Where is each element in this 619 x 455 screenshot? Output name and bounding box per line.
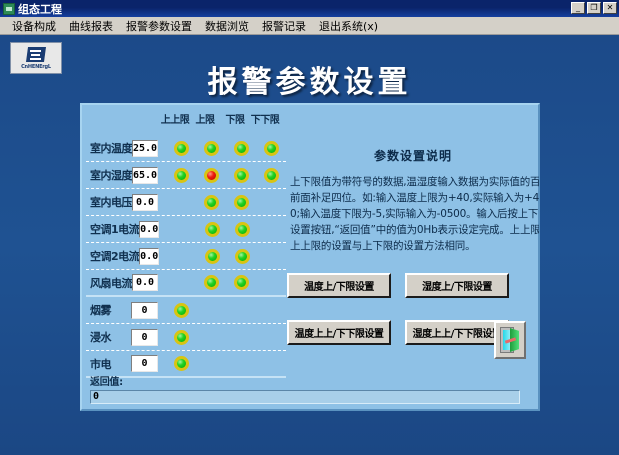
- status-led-green: [234, 168, 249, 183]
- row-label: 空调1电流: [86, 221, 139, 237]
- led-cell-upper-upper: [166, 356, 196, 371]
- status-led-green: [174, 141, 189, 156]
- led-cell-lower: [226, 168, 256, 183]
- status-led-green: [174, 168, 189, 183]
- settings-panel: 上上限 上限 下限 下下限 室内温度 25.0: [80, 103, 540, 411]
- description-panel: 参数设置说明 上下限值为带符号的数据,温湿度输入数据为实际值的百倍,前面补足四位…: [287, 135, 539, 254]
- led-cell-upper: [196, 141, 226, 156]
- status-led-green: [174, 330, 189, 345]
- menubar: 设备构成 曲线报表 报警参数设置 数据浏览 报警记录 退出系统(x): [0, 17, 619, 35]
- led-cell-lower-lower: [257, 222, 287, 237]
- table-row: 空调2电流 0.0: [86, 243, 286, 270]
- menu-data-browse[interactable]: 数据浏览: [199, 17, 256, 35]
- led-cell-lower: [226, 141, 256, 156]
- led-cell-lower-lower: [256, 168, 286, 183]
- led-cell-upper-upper: [166, 330, 196, 345]
- close-button[interactable]: ✕: [603, 2, 617, 14]
- led-cell-lower-lower: [256, 330, 286, 345]
- status-led-green: [205, 249, 220, 264]
- led-placeholder: [175, 222, 190, 237]
- led-cell-lower: [226, 275, 256, 290]
- status-led-green: [234, 141, 249, 156]
- exit-door-icon: [500, 327, 520, 353]
- table-row: 室内电压 0.0: [86, 189, 286, 216]
- temp-upper-lower-limit-button[interactable]: 温度上/下限设置: [287, 273, 391, 298]
- status-led-green: [235, 249, 250, 264]
- column-header-lower: 下限: [220, 111, 250, 126]
- led-placeholder: [265, 249, 280, 264]
- led-cell-upper: [196, 195, 226, 210]
- status-led-green: [235, 222, 250, 237]
- row-value-input[interactable]: 0: [131, 355, 158, 372]
- led-placeholder: [264, 195, 279, 210]
- row-value-input[interactable]: 0: [131, 329, 158, 346]
- led-cell-lower-lower: [257, 249, 287, 264]
- led-placeholder: [264, 356, 279, 371]
- table-row: 风扇电流 0.0: [86, 270, 286, 297]
- table-row: 空调1电流 0.0: [86, 216, 286, 243]
- status-led-green: [234, 195, 249, 210]
- window-controls[interactable]: _ ❐ ✕: [571, 2, 617, 14]
- led-placeholder: [234, 330, 249, 345]
- led-cell-upper: [196, 356, 226, 371]
- return-value-input[interactable]: 0: [90, 390, 520, 404]
- exit-door-button[interactable]: [494, 321, 526, 359]
- row-value-input[interactable]: 0: [131, 302, 158, 319]
- description-title: 参数设置说明: [287, 147, 539, 164]
- led-cell-lower: [227, 222, 257, 237]
- menu-alarm-log[interactable]: 报警记录: [256, 17, 313, 35]
- app-icon: [3, 3, 15, 15]
- row-label: 室内电压: [86, 194, 132, 210]
- minimize-button[interactable]: _: [571, 2, 585, 14]
- row-value-input[interactable]: 0.0: [139, 248, 159, 265]
- led-strip: [166, 195, 286, 210]
- return-value-area: 返回值: 0: [90, 373, 520, 404]
- row-label: 浸水: [86, 329, 131, 345]
- column-header-lower-lower: 下下限: [250, 111, 280, 126]
- parameter-table: 室内温度 25.0 室内湿度 65.0: [86, 135, 286, 378]
- row-value-input[interactable]: 0.0: [132, 194, 158, 211]
- led-cell-lower: [226, 303, 256, 318]
- led-strip: [166, 330, 286, 345]
- led-placeholder: [174, 275, 189, 290]
- status-led-green: [174, 356, 189, 371]
- led-placeholder: [234, 303, 249, 318]
- column-headers: 上上限 上限 下限 下下限: [160, 111, 352, 126]
- status-led-green: [204, 275, 219, 290]
- led-strip: [166, 168, 286, 183]
- led-strip: [166, 141, 286, 156]
- led-placeholder: [264, 275, 279, 290]
- window-title: 组态工程: [18, 1, 62, 17]
- row-label: 室内湿度: [86, 167, 132, 183]
- led-placeholder: [174, 195, 189, 210]
- led-placeholder: [204, 303, 219, 318]
- row-label: 室内温度: [86, 140, 132, 156]
- status-led-green: [204, 195, 219, 210]
- row-value-input[interactable]: 65.0: [132, 167, 158, 184]
- table-row: 烟雾 0: [86, 297, 286, 324]
- row-label: 风扇电流: [86, 275, 132, 291]
- row-label: 市电: [86, 356, 131, 372]
- led-cell-upper: [196, 275, 226, 290]
- status-led-green: [264, 141, 279, 156]
- button-row-1: 温度上/下限设置 湿度上/下限设置: [287, 273, 537, 298]
- column-header-upper-upper: 上上限: [160, 111, 190, 126]
- restore-button[interactable]: ❐: [587, 2, 601, 14]
- description-body: 上下限值为带符号的数据,温湿度输入数据为实际值的百倍,前面补足四位。如:输入温度…: [287, 174, 539, 254]
- menu-curve-report[interactable]: 曲线报表: [63, 17, 120, 35]
- led-cell-upper-upper: [166, 303, 196, 318]
- led-cell-lower: [226, 330, 256, 345]
- led-cell-upper: [197, 222, 227, 237]
- row-label: 烟雾: [86, 302, 131, 318]
- table-row: 室内温度 25.0: [86, 135, 286, 162]
- status-led-green: [174, 303, 189, 318]
- led-cell-lower-lower: [256, 195, 286, 210]
- page-title: 报警参数设置: [0, 57, 619, 101]
- humidity-upper-lower-limit-button[interactable]: 湿度上/下限设置: [405, 273, 509, 298]
- led-cell-lower-lower: [256, 275, 286, 290]
- temp-extreme-limit-button[interactable]: 温度上上/下下限设置: [287, 320, 391, 345]
- led-cell-upper: [196, 330, 226, 345]
- status-led-green: [264, 168, 279, 183]
- led-cell-lower: [226, 356, 256, 371]
- workspace: CnHENErgL 报警参数设置 上上限 上限 下限 下下限 室内温度 25.0: [0, 35, 619, 455]
- led-placeholder: [204, 356, 219, 371]
- row-label: 空调2电流: [86, 248, 139, 264]
- row-value-input[interactable]: 0.0: [132, 274, 158, 291]
- led-cell-lower: [226, 195, 256, 210]
- led-cell-upper: [197, 249, 227, 264]
- status-led-red: [204, 168, 219, 183]
- led-strip: [166, 303, 286, 318]
- row-value-input[interactable]: 25.0: [132, 140, 158, 157]
- led-placeholder: [204, 330, 219, 345]
- application-window: 组态工程 _ ❐ ✕ 设备构成 曲线报表 报警参数设置 数据浏览 报警记录 退出…: [0, 0, 619, 455]
- table-row: 室内湿度 65.0: [86, 162, 286, 189]
- led-cell-lower: [227, 249, 257, 264]
- column-header-upper: 上限: [190, 111, 220, 126]
- led-strip: [167, 222, 287, 237]
- led-cell-upper-upper: [167, 249, 197, 264]
- led-cell-upper-upper: [167, 222, 197, 237]
- led-placeholder: [234, 356, 249, 371]
- status-led-green: [205, 222, 220, 237]
- led-cell-upper-upper: [166, 141, 196, 156]
- menu-exit-system[interactable]: 退出系统(x): [313, 17, 385, 35]
- led-cell-lower-lower: [256, 356, 286, 371]
- led-placeholder: [265, 222, 280, 237]
- led-cell-upper: [196, 303, 226, 318]
- status-led-green: [234, 275, 249, 290]
- led-placeholder: [175, 249, 190, 264]
- row-value-input[interactable]: 0.0: [139, 221, 159, 238]
- table-row: 浸水 0: [86, 324, 286, 351]
- led-placeholder: [264, 330, 279, 345]
- window-titlebar: 组态工程 _ ❐ ✕: [0, 0, 619, 17]
- led-cell-upper-upper: [166, 168, 196, 183]
- led-strip: [166, 356, 286, 371]
- led-cell-lower-lower: [256, 303, 286, 318]
- led-cell-lower-lower: [256, 141, 286, 156]
- led-cell-upper-upper: [166, 195, 196, 210]
- status-led-green: [204, 141, 219, 156]
- led-strip: [166, 275, 286, 290]
- led-strip: [167, 249, 287, 264]
- led-cell-upper: [196, 168, 226, 183]
- led-placeholder: [264, 303, 279, 318]
- menu-device-composition[interactable]: 设备构成: [6, 17, 63, 35]
- menu-alarm-parameter-settings[interactable]: 报警参数设置: [120, 17, 199, 35]
- led-cell-upper-upper: [166, 275, 196, 290]
- return-value-label: 返回值:: [90, 373, 520, 388]
